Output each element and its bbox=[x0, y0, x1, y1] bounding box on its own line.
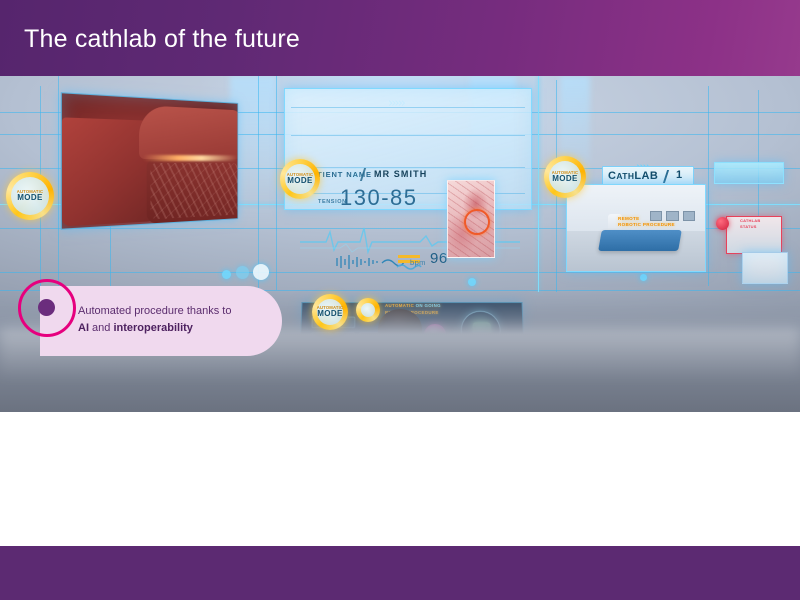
callout-bold-ai: AI bbox=[78, 322, 89, 334]
scan-line bbox=[291, 107, 525, 108]
slide-root: The cathlab of the future ››››› ››››› ››… bbox=[0, 0, 800, 600]
bpm-value: 96 bbox=[430, 251, 448, 266]
badge-text: AUTOMATIC MODE bbox=[287, 173, 314, 186]
alert-line-2: STATUS bbox=[740, 224, 757, 229]
slide-footer: 2022 euro PCR EuroPCR.com EAPCI European… bbox=[0, 546, 800, 600]
holo-gridline bbox=[58, 76, 59, 296]
holo-gridline bbox=[0, 272, 800, 273]
holo-node bbox=[236, 266, 249, 279]
tissue-region bbox=[139, 106, 238, 159]
tertiary-monitor-panel[interactable] bbox=[742, 252, 788, 284]
holo-gridline bbox=[538, 76, 539, 292]
automatic-mode-badge-center: AUTOMATIC MODE bbox=[280, 159, 320, 199]
cathlab-number: 1 bbox=[676, 170, 682, 181]
alert-badge-icon bbox=[716, 217, 729, 230]
scan-line bbox=[291, 167, 525, 168]
holo-gridline bbox=[276, 76, 277, 290]
holo-gridline bbox=[708, 86, 709, 286]
bpm-sparkline bbox=[330, 254, 404, 270]
remote-procedure-overlay: REMOTE ROBOTIC PROCEDURE bbox=[618, 216, 675, 228]
cathlab-illustration: ››››› ››››› ›››› PATIENT NAME MR SMITH T… bbox=[0, 76, 800, 412]
callout-dot-icon bbox=[38, 299, 55, 316]
alert-monitor-label: CATHLAB STATUS bbox=[740, 218, 760, 229]
callout-line-1: Automated procedure thanks to bbox=[78, 305, 231, 317]
holo-node bbox=[640, 274, 647, 281]
cathlab-label: CATHLAB bbox=[608, 171, 658, 182]
slide-header: The cathlab of the future bbox=[0, 0, 800, 76]
holo-node bbox=[253, 264, 269, 280]
badge-main-text: MODE bbox=[17, 194, 44, 202]
remote-line-2: ROBOTIC PROCEDURE bbox=[618, 222, 675, 227]
cathlab-label-ath: ATH bbox=[616, 171, 634, 181]
callout-text: Automated procedure thanks to AI and int… bbox=[78, 303, 278, 337]
holo-gridline bbox=[258, 76, 259, 290]
badge-text: AUTOMATIC MODE bbox=[17, 190, 44, 203]
badge-text: AUTOMATIC MODE bbox=[552, 171, 579, 184]
callout-bold-interoperability: interoperability bbox=[113, 322, 192, 334]
automatic-mode-badge-right: AUTOMATIC MODE bbox=[544, 156, 586, 198]
secondary-holo-panel[interactable] bbox=[714, 162, 784, 184]
badge-main-text: MODE bbox=[287, 177, 314, 185]
bpm-label: bpm bbox=[410, 259, 426, 267]
patient-name-value: MR SMITH bbox=[374, 170, 427, 179]
target-ring-icon bbox=[464, 209, 490, 235]
room-monitor bbox=[683, 211, 695, 221]
holo-node bbox=[468, 278, 476, 286]
page-title: The cathlab of the future bbox=[24, 25, 300, 54]
automatic-mode-badge-small bbox=[356, 298, 380, 322]
automatic-mode-badge-left: AUTOMATIC MODE bbox=[6, 172, 54, 220]
cathlab-label-lab: LAB bbox=[634, 170, 658, 182]
callout-middle: and bbox=[89, 322, 113, 334]
alert-line-1: CATHLAB bbox=[740, 218, 760, 223]
procedure-table bbox=[598, 230, 682, 251]
tension-value: 130-85 bbox=[340, 187, 418, 209]
badge-text: AUTOMATIC MODE bbox=[317, 306, 344, 319]
badge-inner bbox=[361, 303, 375, 317]
badge-main-text: MODE bbox=[317, 310, 344, 318]
automatic-mode-badge-console: AUTOMATIC MODE bbox=[312, 294, 348, 330]
heart-hologram-thumbnail[interactable] bbox=[447, 180, 495, 258]
anatomy-screen-panel[interactable] bbox=[61, 92, 238, 230]
scan-line bbox=[291, 135, 525, 136]
remote-line-1: REMOTE bbox=[618, 216, 639, 221]
holo-node bbox=[222, 270, 231, 279]
tissue-region bbox=[146, 158, 238, 223]
highlight-glow bbox=[143, 155, 238, 161]
badge-main-text: MODE bbox=[552, 175, 579, 183]
